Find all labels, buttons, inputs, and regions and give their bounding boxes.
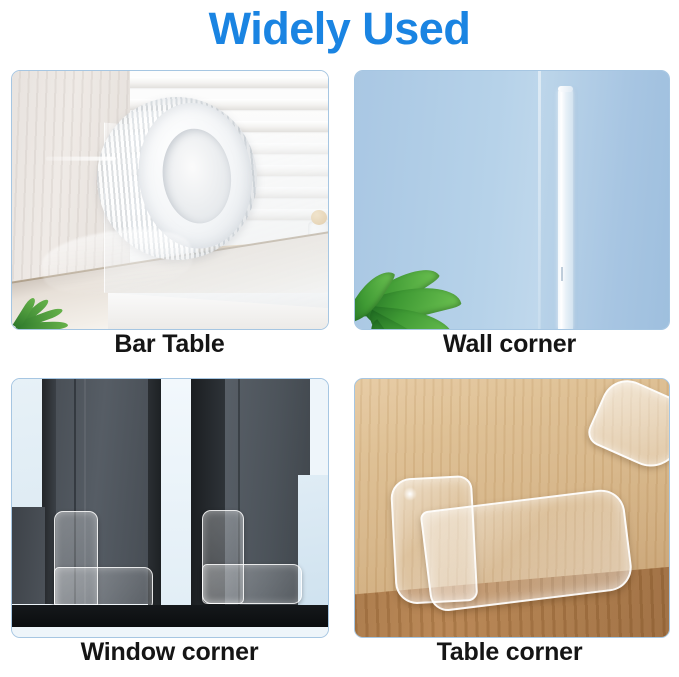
photo-bar-table xyxy=(11,70,329,330)
corner-guard-right-horizontal xyxy=(202,564,302,604)
corner-guard-strip-top xyxy=(558,86,573,92)
panel-wall-corner[interactable]: Wall corner xyxy=(340,62,679,369)
photo-table-corner xyxy=(354,378,670,638)
panel-caption: Table corner xyxy=(340,638,679,667)
scene-bar-table xyxy=(12,71,328,329)
window-base-rail xyxy=(12,605,328,627)
photo-wall-corner xyxy=(354,70,670,330)
corner-guard-strip-seam xyxy=(561,267,563,281)
window-sill-left xyxy=(12,507,45,604)
panel-window-corner[interactable]: Window corner xyxy=(0,370,339,677)
panel-caption: Wall corner xyxy=(340,330,679,359)
window-gap xyxy=(161,379,191,607)
window-glass-right xyxy=(298,475,329,607)
wall-corner-seam xyxy=(538,71,541,329)
panel-caption: Window corner xyxy=(0,638,339,667)
panel-table-corner[interactable]: Table corner xyxy=(340,370,679,677)
corner-guard-strip xyxy=(558,89,573,329)
scene-wall-corner xyxy=(355,71,669,329)
page-title: Widely Used xyxy=(0,0,679,62)
fern-plant xyxy=(11,267,98,330)
scene-table-corner xyxy=(355,379,669,637)
tape-roll-tail xyxy=(46,157,116,161)
blind-slat xyxy=(124,77,329,88)
panel-bar-table[interactable]: Bar Table xyxy=(0,62,339,369)
panel-caption: Bar Table xyxy=(0,330,339,359)
photo-window-corner xyxy=(11,378,329,638)
corner-guard-highlight xyxy=(403,487,417,501)
panel-grid: Bar Table Wall corner xyxy=(0,62,679,676)
green-plant xyxy=(361,211,481,330)
scene-window-corner xyxy=(12,379,328,637)
